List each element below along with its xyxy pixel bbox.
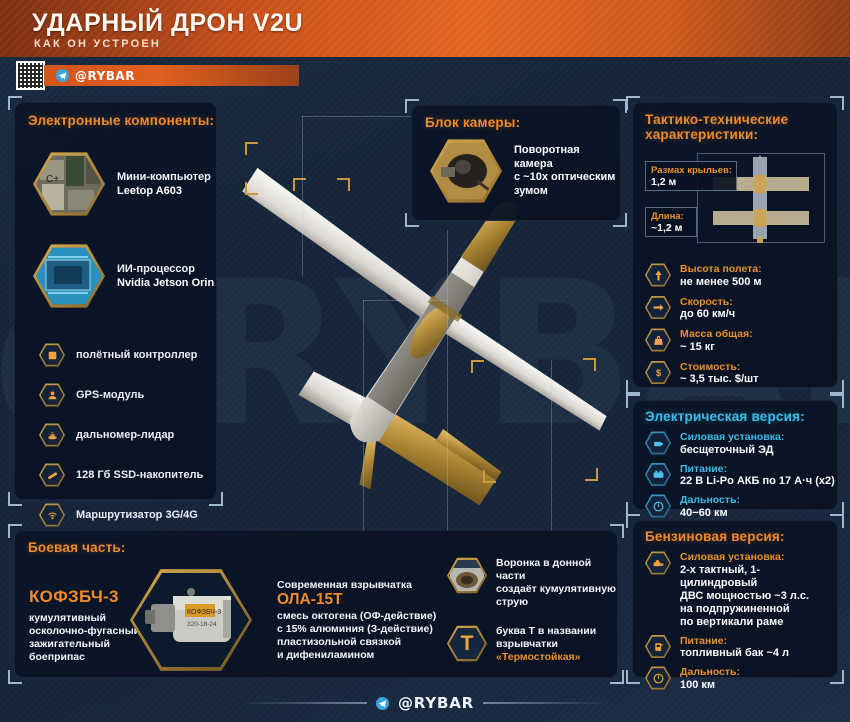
page-subtitle: КАК ОН УСТРОЕН bbox=[34, 38, 161, 50]
infographic-root: @RYBAR bbox=[0, 0, 850, 722]
warhead-name: КОФЗБЧ-3 bbox=[29, 587, 140, 607]
warhead-photo: КОФЗБЧ-3 320-18-24 bbox=[130, 567, 252, 673]
list-item-ssd: 128 Гб SSD-накопитель bbox=[39, 463, 203, 487]
note-t-2: взрывчатки bbox=[496, 638, 596, 651]
shaped-charge-funnel-icon bbox=[447, 557, 487, 594]
camera-title: Блок камеры: bbox=[425, 115, 520, 130]
camera-desc-1: Поворотная камера bbox=[514, 144, 620, 171]
electric-version-panel: Электрическая версия: Силовая установка:… bbox=[632, 400, 838, 510]
spec-value: ~ 15 кг bbox=[680, 341, 753, 354]
weight-icon bbox=[645, 328, 671, 352]
ssd-icon bbox=[39, 463, 65, 487]
electronics-featured-item: C+ Мини-компьютер Leetop A603 bbox=[33, 151, 211, 217]
corner-bracket bbox=[8, 670, 22, 684]
spec-electric-range: Дальность: 40−60 км bbox=[645, 494, 835, 520]
explosive-name: ОЛА-15Т bbox=[277, 593, 436, 606]
spec-value: 40−60 км bbox=[680, 507, 740, 520]
list-item-lidar: дальномер-лидар bbox=[39, 423, 203, 447]
spec-value: топливный бак ~4 л bbox=[680, 647, 789, 660]
corner-bracket bbox=[610, 670, 624, 684]
warhead-desc-3: зажигательный bbox=[29, 638, 140, 651]
footer-divider-left bbox=[242, 702, 367, 704]
corner-bracket bbox=[8, 524, 22, 538]
electronics-panel: Электронные компоненты: C+ Мин bbox=[14, 102, 217, 500]
list-item-label: полётный контроллер bbox=[76, 349, 197, 361]
warhead-note-letter-t: T буква Т в названии взрывчатки «Термост… bbox=[447, 625, 617, 664]
corner-bracket bbox=[626, 670, 640, 684]
spec-key: Масса общая: bbox=[680, 328, 753, 341]
corner-bracket bbox=[8, 492, 22, 506]
footer-brand-label: @RYBAR bbox=[398, 694, 474, 712]
spec-value: бесщеточный ЭД bbox=[680, 444, 784, 457]
warhead-desc-1: кумулятивный bbox=[29, 612, 140, 625]
note-funnel-1: Воронка в донной части bbox=[496, 557, 617, 583]
corner-bracket bbox=[830, 96, 844, 110]
wingspan-value: 1,2 м bbox=[646, 176, 736, 188]
list-item-label: 128 Гб SSD-накопитель bbox=[76, 469, 203, 481]
spec-value: 2-х тактный, 1-цилиндровый ДВС мощностью… bbox=[680, 564, 837, 629]
spec-key: Дальность: bbox=[680, 494, 740, 507]
explosive-desc-1: смесь октогена (ОФ-действие) bbox=[277, 610, 436, 623]
spec-electric-power: Питание: 22 В Li-Po АКБ по 17 А·ч (х2) bbox=[645, 463, 835, 489]
gasoline-version-title: Бензиновая версия: bbox=[645, 529, 785, 544]
wingspan-callout: Размах крыльев: 1,2 м bbox=[645, 161, 737, 191]
ai-processor-photo bbox=[33, 243, 105, 309]
svg-text:320-18-24: 320-18-24 bbox=[187, 621, 217, 628]
camera-desc-2: с ~10х оптическим bbox=[514, 171, 620, 185]
explosive-desc-4: и дифениламином bbox=[277, 649, 436, 662]
spec-altitude: Высота полета: не менее 500 м bbox=[645, 263, 762, 289]
spec-mass: Масса общая: ~ 15 кг bbox=[645, 328, 762, 354]
spec-cost: $ Стоимость: ~ 3,5 тыс. $/шт bbox=[645, 361, 762, 387]
camera-panel: Блок камеры: Поворотная камера с ~10х оп… bbox=[411, 105, 621, 221]
speed-arrow-icon bbox=[645, 296, 671, 320]
electric-motor-icon bbox=[645, 431, 671, 455]
warhead-title: Боевая часть: bbox=[28, 540, 126, 555]
qr-code-icon bbox=[16, 61, 45, 90]
ai-processor-label-1: ИИ-процессор bbox=[117, 262, 214, 276]
list-item-label: Маршрутизатор 3G/4G bbox=[76, 509, 198, 521]
ttx-panel: Тактико-технические характеристики: Разм… bbox=[632, 102, 838, 388]
ttx-title-line2: характеристики: bbox=[645, 127, 788, 142]
spec-key: Дальность: bbox=[680, 666, 740, 679]
header-brand-bar[interactable]: @RYBAR bbox=[44, 65, 299, 86]
spec-value: 22 В Li-Po АКБ по 17 А·ч (х2) bbox=[680, 475, 835, 488]
spec-key: Силовая установка: bbox=[680, 551, 837, 564]
lidar-icon bbox=[39, 423, 65, 447]
spec-key: Стоимость: bbox=[680, 361, 759, 374]
footer-divider-right bbox=[483, 702, 608, 704]
spec-speed: Скорость: до 60 км/ч bbox=[645, 296, 762, 322]
warhead-desc-4: боеприпас bbox=[29, 651, 140, 664]
spec-key: Питание: bbox=[680, 635, 789, 648]
note-t-highlight: «Термостойкая» bbox=[496, 651, 596, 664]
range-gauge-icon bbox=[645, 494, 671, 518]
dollar-icon: $ bbox=[645, 361, 671, 385]
telegram-icon bbox=[376, 697, 389, 710]
mini-computer-label-1: Мини-компьютер bbox=[117, 170, 211, 184]
router-wifi-icon bbox=[39, 503, 65, 527]
corner-bracket bbox=[8, 96, 22, 110]
corner-bracket bbox=[405, 99, 419, 113]
letter-t-icon: T bbox=[447, 625, 487, 662]
warhead-panel: Боевая часть: КОФЗБЧ-3 кумулятивный оско… bbox=[14, 530, 618, 678]
battery-icon bbox=[645, 463, 671, 487]
corner-bracket bbox=[626, 96, 640, 110]
spec-key: Силовая установка: bbox=[680, 431, 784, 444]
combustion-engine-icon bbox=[645, 551, 671, 575]
spec-electric-powerplant: Силовая установка: бесщеточный ЭД bbox=[645, 431, 835, 457]
fuel-tank-icon bbox=[645, 635, 671, 659]
note-funnel-2: создаёт кумулятивную bbox=[496, 583, 617, 596]
list-item-gps: GPS-модуль bbox=[39, 383, 203, 407]
spec-value: ~ 3,5 тыс. $/шт bbox=[680, 373, 759, 386]
spec-gas-powerplant: Силовая установка: 2-х тактный, 1-цилинд… bbox=[645, 551, 837, 629]
ttx-title-line1: Тактико-технические bbox=[645, 112, 788, 127]
explosive-desc-2: с 15% алюминия (З-действие) bbox=[277, 623, 436, 636]
telegram-icon bbox=[56, 69, 69, 82]
spec-key: Питание: bbox=[680, 463, 835, 476]
length-callout: Длина: ~1,2 м bbox=[645, 207, 697, 237]
list-item-label: дальномер-лидар bbox=[76, 429, 174, 441]
electronics-featured-item: ИИ-процессор Nvidia Jetson Orin bbox=[33, 243, 214, 309]
header-banner: УДАРНЫЙ ДРОН V2U КАК ОН УСТРОЕН bbox=[0, 0, 850, 57]
mini-computer-photo: C+ bbox=[33, 151, 105, 217]
spec-gas-power: Питание: топливный бак ~4 л bbox=[645, 635, 837, 661]
footer-brand: @RYBAR bbox=[0, 684, 850, 722]
electronics-title: Электронные компоненты: bbox=[28, 113, 214, 128]
length-label: Длина: bbox=[646, 208, 696, 222]
spec-key: Высота полета: bbox=[680, 263, 762, 276]
spec-key: Скорость: bbox=[680, 296, 735, 309]
altitude-arrow-up-icon bbox=[645, 263, 671, 287]
ai-processor-label-2: Nvidia Jetson Orin bbox=[117, 276, 214, 290]
gasoline-version-panel: Бензиновая версия: Силовая установка: 2-… bbox=[632, 520, 838, 678]
letter-t-glyph: T bbox=[461, 633, 474, 654]
header-brand-label: @RYBAR bbox=[75, 69, 135, 83]
warhead-note-funnel: Воронка в донной части создаёт кумулятив… bbox=[447, 557, 617, 609]
length-value: ~1,2 м bbox=[646, 222, 696, 234]
list-item-label: GPS-модуль bbox=[76, 389, 144, 401]
note-funnel-3: струю bbox=[496, 596, 617, 609]
note-t-1: буква Т в названии bbox=[496, 625, 596, 638]
list-item-router: Маршрутизатор 3G/4G bbox=[39, 503, 203, 527]
explosive-desc-3: пластизольной связкой bbox=[277, 636, 436, 649]
page-title: УДАРНЫЙ ДРОН V2U bbox=[32, 9, 303, 38]
warhead-desc-2: осколочно-фугасный bbox=[29, 625, 140, 638]
svg-text:$: $ bbox=[655, 368, 660, 378]
list-item-flight-controller: полётный контроллер bbox=[39, 343, 203, 367]
electric-version-title: Электрическая версия: bbox=[645, 409, 805, 424]
camera-module-photo bbox=[430, 138, 502, 204]
corner-bracket bbox=[613, 99, 627, 113]
wingspan-label: Размах крыльев: bbox=[646, 162, 736, 176]
drone-top-view-diagram: Размах крыльев: 1,2 м Длина: ~1,2 м bbox=[645, 151, 827, 259]
spec-value: до 60 км/ч bbox=[680, 308, 735, 321]
svg-text:C+: C+ bbox=[46, 174, 59, 185]
flight-controller-icon bbox=[39, 343, 65, 367]
camera-desc-3: зумом bbox=[514, 185, 620, 199]
mini-computer-label-2: Leetop A603 bbox=[117, 184, 211, 198]
spec-value: не менее 500 м bbox=[680, 276, 762, 289]
svg-text:КОФЗБЧ-3: КОФЗБЧ-3 bbox=[187, 609, 221, 616]
gps-icon bbox=[39, 383, 65, 407]
